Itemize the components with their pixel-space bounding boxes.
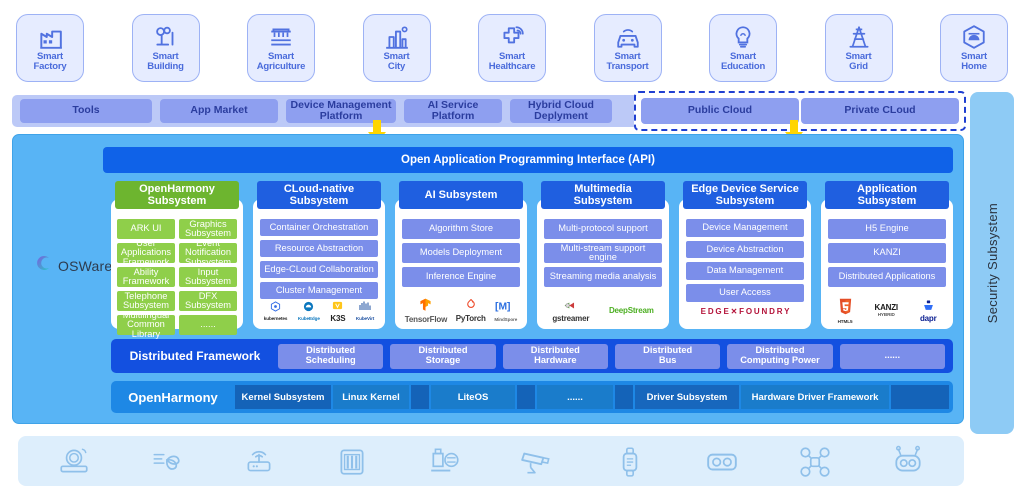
logo-label: DeepStream xyxy=(609,307,654,315)
scenario-card-label: SmartBuilding xyxy=(147,52,183,72)
subsystem-item[interactable]: Cluster Management xyxy=(260,282,378,299)
logo-kanzi-hybrid: KANZIHYBRID xyxy=(875,304,898,318)
distributed-framework-row: Distributed Framework DistributedSchedul… xyxy=(111,339,953,373)
subsystem-item[interactable]: ...... xyxy=(179,315,237,335)
subsystem-item-label: Resource Abstraction xyxy=(275,244,363,253)
subsystem-item[interactable]: Multilingual Common Library xyxy=(117,315,175,335)
router-icon xyxy=(242,445,276,477)
subsystem-title: ApplicationSubsystem xyxy=(825,181,949,209)
subsystem-logos: E D G E ✕ F O U N D R Y xyxy=(686,302,804,325)
openharmony-row: OpenHarmony Kernel SubsystemLinux Kernel… xyxy=(111,381,953,413)
fan-blade-icon xyxy=(150,445,184,477)
grid-icon xyxy=(846,24,872,50)
logo-label: kubernetes xyxy=(264,317,288,322)
distributed-framework-item-label: DistributedStorage xyxy=(418,346,467,365)
platform-item-label: Hybrid CloudDeplyment xyxy=(528,100,594,122)
subsystem-item-label: User Applications Framework xyxy=(119,239,173,267)
platform-item-label: Device ManagementPlatform xyxy=(291,100,392,122)
openharmony-item-label: ...... xyxy=(567,392,583,403)
logo-mark-icon xyxy=(332,299,343,315)
scenario-card-label: SmartHome xyxy=(961,52,987,72)
industrial-machine-icon xyxy=(428,445,462,477)
openharmony-title: OpenHarmony xyxy=(111,390,235,405)
logo-tensorflow: TensorFlow xyxy=(405,298,447,324)
openharmony-item-label: Driver Subsystem xyxy=(647,392,728,403)
scenario-card-label: SmartHealthcare xyxy=(489,52,536,72)
subsystem-item[interactable]: Graphics Subsystem xyxy=(179,219,237,239)
subsystem-item-label: Algorithm Store xyxy=(429,224,493,233)
scenario-card-label: SmartFactory xyxy=(34,52,67,72)
subsystem-item-label: Edge-CLoud Collaboration xyxy=(264,265,374,274)
platform-item-ai-service-platform[interactable]: AI Service Platform xyxy=(404,99,502,123)
openharmony-item-spacer xyxy=(411,385,429,409)
subsystem-body: Algorithm StoreModels DeploymentInferenc… xyxy=(395,199,527,329)
openharmony-item-label: LiteOS xyxy=(458,392,489,403)
platform-item-label: Public Cloud xyxy=(688,105,752,116)
subsystem-item-label: H5 Engine xyxy=(865,224,908,233)
subsystem-title: CLoud-nativeSubsystem xyxy=(257,181,381,209)
subsystem-item[interactable]: Container Orchestration xyxy=(260,219,378,236)
device-strip xyxy=(18,436,964,486)
subsystem-logos: TensorFlowPyTorch[M]MindSpore xyxy=(402,299,520,325)
logo-kubernetes: kubernetes xyxy=(264,300,288,322)
logo-label: HTML5 xyxy=(838,320,853,325)
distributed-framework-item-label: DistributedComputing Power xyxy=(740,346,820,365)
platform-item-hybrid-cloud[interactable]: Hybrid CloudDeplyment xyxy=(510,99,612,123)
smart-watch-icon xyxy=(613,445,647,477)
openharmony-item-spacer xyxy=(891,385,949,409)
subsystem-item[interactable]: Event Notification Subsystem xyxy=(179,243,237,263)
osware-brand: OSWare xyxy=(33,253,112,278)
subsystem-item[interactable]: KANZI xyxy=(828,243,946,263)
logo-kubeedge: KubeEdge xyxy=(298,300,320,322)
openharmony-item-spacer xyxy=(615,385,633,409)
osware-name: OSWare xyxy=(58,258,112,274)
factory-icon xyxy=(37,24,63,50)
logo-label: gstreamer xyxy=(552,315,589,323)
scenario-card-smart-grid[interactable]: SmartGrid xyxy=(825,14,893,82)
platform-item-public-cloud[interactable]: Public Cloud xyxy=(641,98,799,124)
svg-text:[M]: [M] xyxy=(495,301,511,312)
subsystem-item-label: Device Management xyxy=(702,223,787,232)
openharmony-items: Kernel SubsystemLinux KernelLiteOS......… xyxy=(235,381,953,413)
building-icon xyxy=(153,24,179,50)
subsystem-item-label: Inference Engine xyxy=(426,272,496,281)
subsystem-item-label: Multi-stream support engine xyxy=(546,244,660,263)
logo-label: KubeEdge xyxy=(298,317,320,322)
openharmony-item-......[interactable]: ...... xyxy=(537,385,613,409)
subsystem-title: MultimediaSubsystem xyxy=(541,181,665,209)
subsystem-item-label: Cluster Management xyxy=(276,286,362,295)
scenario-card-label: SmartAgriculture xyxy=(257,52,305,72)
subsystem-item[interactable]: Telephone Subsystem xyxy=(117,291,175,311)
logo-mark-icon xyxy=(270,300,281,316)
distributed-framework-item[interactable]: DistributedHardware xyxy=(503,344,608,369)
logo-label: KANZI xyxy=(875,304,898,312)
logo-mark-icon xyxy=(564,299,577,315)
subsystem-item-label: Models Deployment xyxy=(420,248,502,257)
subsystem-item[interactable]: Resource Abstraction xyxy=(260,240,378,257)
openharmony-item-spacer xyxy=(517,385,535,409)
scenario-card-smart-transport[interactable]: SmartTransport xyxy=(594,14,662,82)
logo-k3s: K3S xyxy=(330,299,345,323)
subsystem-column-cloud-native: Container OrchestrationResource Abstract… xyxy=(253,181,385,329)
subsystem-item[interactable]: Algorithm Store xyxy=(402,219,520,239)
healthcare-icon xyxy=(499,24,525,50)
openharmony-item-label: Kernel Subsystem xyxy=(242,392,325,403)
subsystem-column-application: H5 EngineKANZIDistributed ApplicationsHT… xyxy=(821,181,953,329)
subsystem-title: AI Subsystem xyxy=(399,181,523,209)
logo-mark-icon xyxy=(419,298,432,316)
home-icon xyxy=(961,24,987,50)
distributed-framework-item[interactable]: DistributedComputing Power xyxy=(727,344,832,369)
subsystem-item[interactable]: Streaming media analysis xyxy=(544,267,662,287)
subsystem-item[interactable]: ARK UI xyxy=(117,219,175,239)
openharmony-item-label: Hardware Driver Framework xyxy=(752,392,879,403)
logo-sub-label: HYBRID xyxy=(878,313,895,318)
openharmony-item-linux-kernel[interactable]: Linux Kernel xyxy=(333,385,409,409)
logo-label: E D G E ✕ F O U N D R Y xyxy=(701,308,790,316)
subsystem-item-label: Multilingual Common Library xyxy=(119,311,173,339)
education-icon xyxy=(730,24,756,50)
distributed-framework-item-label: DistributedHardware xyxy=(531,346,580,365)
platform-item-label: App Market xyxy=(190,105,247,116)
openharmony-item-kernel-subsystem[interactable]: Kernel Subsystem xyxy=(235,385,331,409)
logo-mark-icon xyxy=(359,300,372,316)
subsystem-logos: gstreamerDeepStream xyxy=(544,299,662,325)
subsystem-item[interactable]: User Applications Framework xyxy=(117,243,175,263)
subsystem-item[interactable]: Multi-protocol support xyxy=(544,219,662,239)
logo-deepstream: DeepStream xyxy=(609,307,654,315)
subsystem-item-label: User Access xyxy=(719,288,771,297)
openharmony-item-liteos[interactable]: LiteOS xyxy=(431,385,515,409)
platform-item-tools[interactable]: Tools xyxy=(20,99,152,123)
subsystem-body: ARK UIGraphics SubsystemUser Application… xyxy=(111,199,243,329)
platform-item-label: Tools xyxy=(72,105,99,116)
subsystem-item[interactable]: Distributed Applications xyxy=(828,267,946,287)
logo-label: dapr xyxy=(920,315,937,323)
subsystem-item[interactable]: Device Abstraction xyxy=(686,241,804,259)
distributed-framework-item[interactable]: DistributedStorage xyxy=(390,344,495,369)
subsystem-logos: kubernetesKubeEdgeK3SKubeVirt xyxy=(260,299,378,325)
subsystem-item-label: Telephone Subsystem xyxy=(119,292,173,311)
subsystem-column-openharmony: ARK UIGraphics SubsystemUser Application… xyxy=(111,181,243,329)
distributed-framework-item[interactable]: DistributedScheduling xyxy=(278,344,383,369)
osware-logo-icon xyxy=(33,253,53,278)
logo-edgexfoundry: E D G E ✕ F O U N D R Y xyxy=(701,308,790,316)
logo-label: PyTorch xyxy=(456,315,486,323)
scenario-card-smart-city[interactable]: SmartCity xyxy=(363,14,431,82)
smart-meter-icon xyxy=(57,445,91,477)
subsystem-item-label: Input Subsystem xyxy=(181,268,235,287)
subsystem-column-multimedia: Multi-protocol supportMulti-stream suppo… xyxy=(537,181,669,329)
logo-label: TensorFlow xyxy=(405,316,447,324)
logo-kubevirt: KubeVirt xyxy=(356,300,374,322)
server-rack-icon xyxy=(335,445,369,477)
subsystem-item-label: DFX Subsystem xyxy=(181,292,235,311)
scenario-card-smart-agriculture[interactable]: SmartAgriculture xyxy=(247,14,315,82)
logo-mindspore: [M]MindSpore xyxy=(494,300,517,323)
subsystem-column-ai-subsystem: Algorithm StoreModels DeploymentInferenc… xyxy=(395,181,527,329)
distributed-framework-item[interactable]: ...... xyxy=(840,344,945,369)
subsystem-columns: ARK UIGraphics SubsystemUser Application… xyxy=(111,181,953,329)
subsystem-item-label: Data Management xyxy=(707,266,784,275)
logo-pytorch: PyTorch xyxy=(456,299,486,323)
subsystem-item-label: Multi-protocol support xyxy=(558,224,647,233)
subsystem-item[interactable]: Models Deployment xyxy=(402,243,520,263)
openharmony-item-hardware-driver-framework[interactable]: Hardware Driver Framework xyxy=(741,385,889,409)
logo-mark-icon xyxy=(303,300,314,316)
subsystem-item[interactable]: H5 Engine xyxy=(828,219,946,239)
logo-label: MindSpore xyxy=(494,318,517,323)
distributed-framework-title: Distributed Framework xyxy=(119,349,271,363)
distributed-framework-item-label: ...... xyxy=(885,351,901,361)
platform-item-app-market[interactable]: App Market xyxy=(160,99,278,123)
platform-item-label: AI Service Platform xyxy=(408,100,498,122)
city-icon xyxy=(384,24,410,50)
robot-icon xyxy=(891,445,925,477)
logo-label: K3S xyxy=(330,315,345,323)
subsystem-body: Multi-protocol supportMulti-stream suppo… xyxy=(537,199,669,329)
subsystem-logos: HTML5KANZIHYBRIDdapr xyxy=(828,299,946,325)
subsystem-item[interactable]: Ability Framework xyxy=(117,267,175,287)
subsystem-body: Device ManagementDevice AbstractionData … xyxy=(679,199,811,329)
logo-html5: HTML5 xyxy=(838,298,853,325)
subsystem-item[interactable]: DFX Subsystem xyxy=(179,291,237,311)
logo-gstreamer: gstreamer xyxy=(552,299,589,323)
platform-item-private-cloud[interactable]: Private CLoud xyxy=(801,98,959,124)
subsystem-item[interactable]: User Access xyxy=(686,284,804,302)
subsystem-item[interactable]: Multi-stream support engine xyxy=(544,243,662,263)
subsystem-title: OpenHarmonySubsystem xyxy=(115,181,239,209)
logo-mark-icon xyxy=(838,298,853,319)
distributed-framework-item-label: DistributedScheduling xyxy=(306,346,356,365)
distributed-framework-item[interactable]: DistributedBus xyxy=(615,344,720,369)
drone-icon xyxy=(798,445,832,477)
subsystem-title: Edge Device ServiceSubsystem xyxy=(683,181,807,209)
subsystem-item[interactable]: Inference Engine xyxy=(402,267,520,287)
subsystem-body: Container OrchestrationResource Abstract… xyxy=(253,199,385,329)
subsystem-item-label: ...... xyxy=(200,320,216,329)
subsystem-item-label: Container Orchestration xyxy=(270,223,369,232)
logo-label: KubeVirt xyxy=(356,317,374,322)
transport-icon xyxy=(615,24,641,50)
scenario-card-smart-factory[interactable]: SmartFactory xyxy=(16,14,84,82)
openharmony-item-driver-subsystem[interactable]: Driver Subsystem xyxy=(635,385,739,409)
subsystem-item-label: Event Notification Subsystem xyxy=(181,239,235,267)
subsystem-body: H5 EngineKANZIDistributed ApplicationsHT… xyxy=(821,199,953,329)
api-bar-label: Open Application Programming Interface (… xyxy=(401,154,655,166)
main-architecture-panel: Open Application Programming Interface (… xyxy=(12,134,964,424)
subsystem-item-label: ARK UI xyxy=(131,224,162,233)
logo-mark-icon xyxy=(466,299,476,315)
scenario-card-smart-education[interactable]: SmartEducation xyxy=(709,14,777,82)
scenario-cards-row: SmartFactorySmartBuildingSmartAgricultur… xyxy=(16,14,1008,82)
security-subsystem: Security Subsystem xyxy=(970,92,1014,434)
subsystem-item-label: Graphics Subsystem xyxy=(181,220,235,239)
distributed-framework-item-label: DistributedBus xyxy=(643,346,692,365)
scenario-card-smart-home[interactable]: SmartHome xyxy=(940,14,1008,82)
subsystem-item-label: Ability Framework xyxy=(119,268,173,287)
scenario-card-label: SmartGrid xyxy=(846,52,872,72)
subsystem-item[interactable]: Input Subsystem xyxy=(179,267,237,287)
logo-mark-icon xyxy=(923,299,934,315)
subsystem-item-label: Distributed Applications xyxy=(839,272,936,281)
scenario-card-label: SmartTransport xyxy=(606,52,648,72)
subsystem-item-label: Device Abstraction xyxy=(707,245,784,254)
logo-dapr: dapr xyxy=(920,299,937,323)
subsystem-item-label: KANZI xyxy=(873,248,900,257)
subsystem-item[interactable]: Data Management xyxy=(686,262,804,280)
security-subsystem-label: Security Subsystem xyxy=(985,203,1000,323)
scenario-card-label: SmartCity xyxy=(384,52,410,72)
logo-mark-icon: [M] xyxy=(495,300,517,317)
vr-headset-icon xyxy=(705,445,739,477)
openharmony-item-label: Linux Kernel xyxy=(342,392,400,403)
scenario-card-smart-building[interactable]: SmartBuilding xyxy=(132,14,200,82)
subsystem-item[interactable]: Edge-CLoud Collaboration xyxy=(260,261,378,278)
subsystem-item-label: Streaming media analysis xyxy=(550,272,656,281)
cctv-camera-icon xyxy=(520,445,554,477)
subsystem-item[interactable]: Device Management xyxy=(686,219,804,237)
scenario-card-label: SmartEducation xyxy=(721,52,765,72)
api-bar: Open Application Programming Interface (… xyxy=(103,147,953,173)
agriculture-icon xyxy=(268,24,294,50)
scenario-card-smart-healthcare[interactable]: SmartHealthcare xyxy=(478,14,546,82)
subsystem-column-edge-device-service: Device ManagementDevice AbstractionData … xyxy=(679,181,811,329)
platform-item-label: Private CLoud xyxy=(844,105,915,116)
